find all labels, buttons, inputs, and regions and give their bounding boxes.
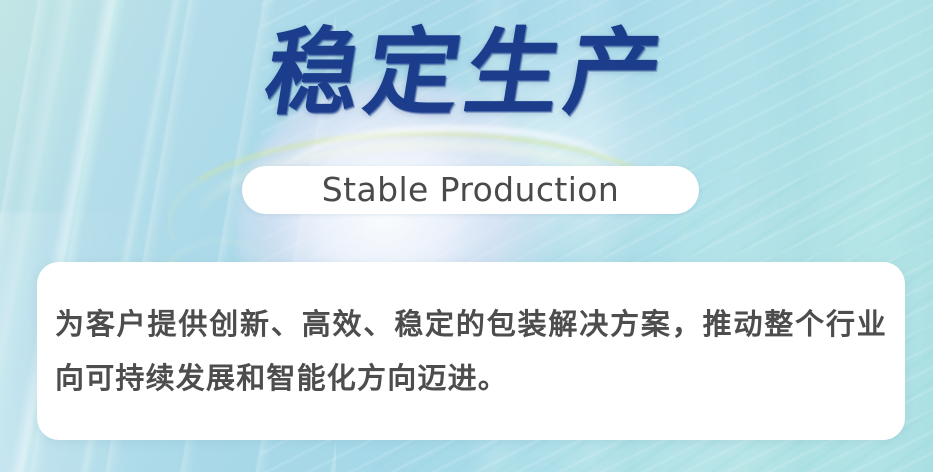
subtitle-pill: Stable Production: [242, 166, 699, 214]
subtitle-text: Stable Production: [322, 172, 619, 208]
description-text: 为客户提供创新、高效、稳定的包装解决方案，推动整个行业向可持续发展和智能化方向迈…: [53, 297, 889, 405]
stable-production-banner: 稳定生产 Stable Production 为客户提供创新、高效、稳定的包装解…: [0, 0, 933, 472]
page-title: 稳定生产: [258, 18, 676, 130]
heading-container: 稳定生产: [0, 18, 933, 130]
description-card: 为客户提供创新、高效、稳定的包装解决方案，推动整个行业向可持续发展和智能化方向迈…: [37, 262, 905, 440]
